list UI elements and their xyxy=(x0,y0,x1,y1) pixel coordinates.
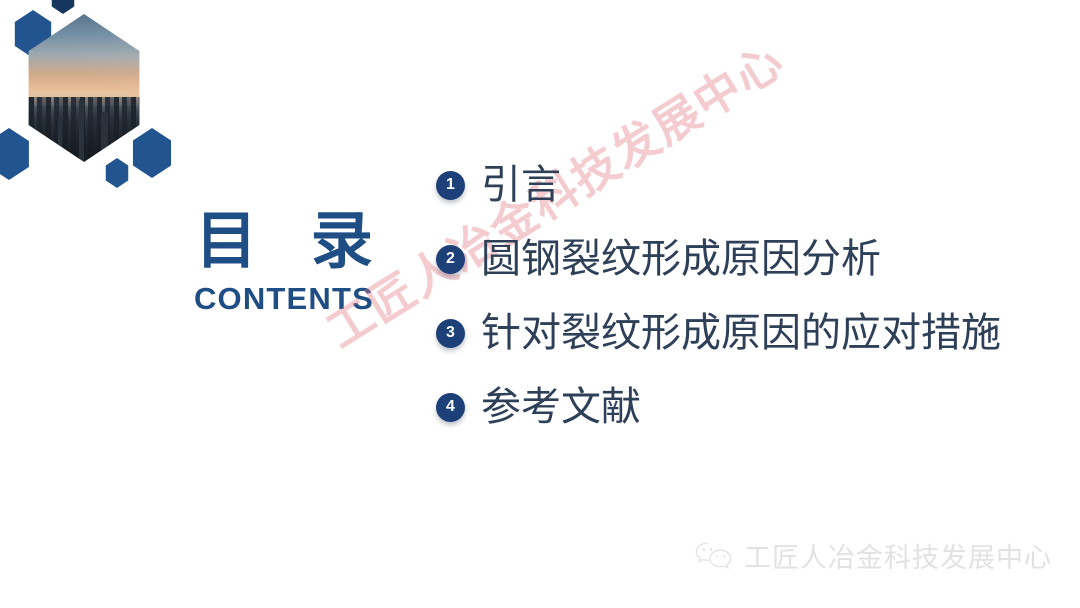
hexagon-small-top-icon xyxy=(50,0,76,14)
page-title: 目 录 CONTENTS xyxy=(176,208,392,317)
list-item[interactable]: 4 参考文献 xyxy=(436,370,1066,444)
contents-number-badge: 3 xyxy=(436,319,465,348)
list-item[interactable]: 3 针对裂纹形成原因的应对措施 xyxy=(436,296,1066,370)
page-title-cn: 目 录 xyxy=(176,208,392,273)
contents-number-badge: 2 xyxy=(436,245,465,274)
list-item[interactable]: 1 引言 xyxy=(436,148,1066,222)
contents-number-badge: 1 xyxy=(436,171,465,200)
hexagon-lower-left-icon xyxy=(0,128,32,180)
contents-slide: 目 录 CONTENTS 工匠人冶金科技发展中心 1 引言 2 圆钢裂纹形成原因… xyxy=(0,0,1080,608)
page-title-en: CONTENTS xyxy=(176,281,392,317)
wechat-icon xyxy=(694,540,734,570)
contents-item-label: 圆钢裂纹形成原因分析 xyxy=(481,239,881,279)
hexagon-upper-left-icon xyxy=(12,10,54,58)
footer-text: 工匠人冶金科技发展中心 xyxy=(744,536,1052,575)
contents-item-label: 针对裂纹形成原因的应对措施 xyxy=(481,313,1001,353)
hexagon-small-bottom-icon xyxy=(104,158,130,188)
hexagon-decoration-cluster xyxy=(0,0,260,230)
contents-number-badge: 4 xyxy=(436,393,465,422)
hexagon-lower-right-icon xyxy=(130,128,174,178)
footer-branding: 工匠人冶金科技发展中心 xyxy=(694,533,1052,577)
contents-item-label: 参考文献 xyxy=(481,387,641,427)
contents-item-label: 引言 xyxy=(481,165,561,205)
list-item[interactable]: 2 圆钢裂纹形成原因分析 xyxy=(436,222,1066,296)
hexagon-photo-city-skyline xyxy=(20,14,148,162)
contents-list: 1 引言 2 圆钢裂纹形成原因分析 3 针对裂纹形成原因的应对措施 4 参考文献 xyxy=(436,148,1066,444)
